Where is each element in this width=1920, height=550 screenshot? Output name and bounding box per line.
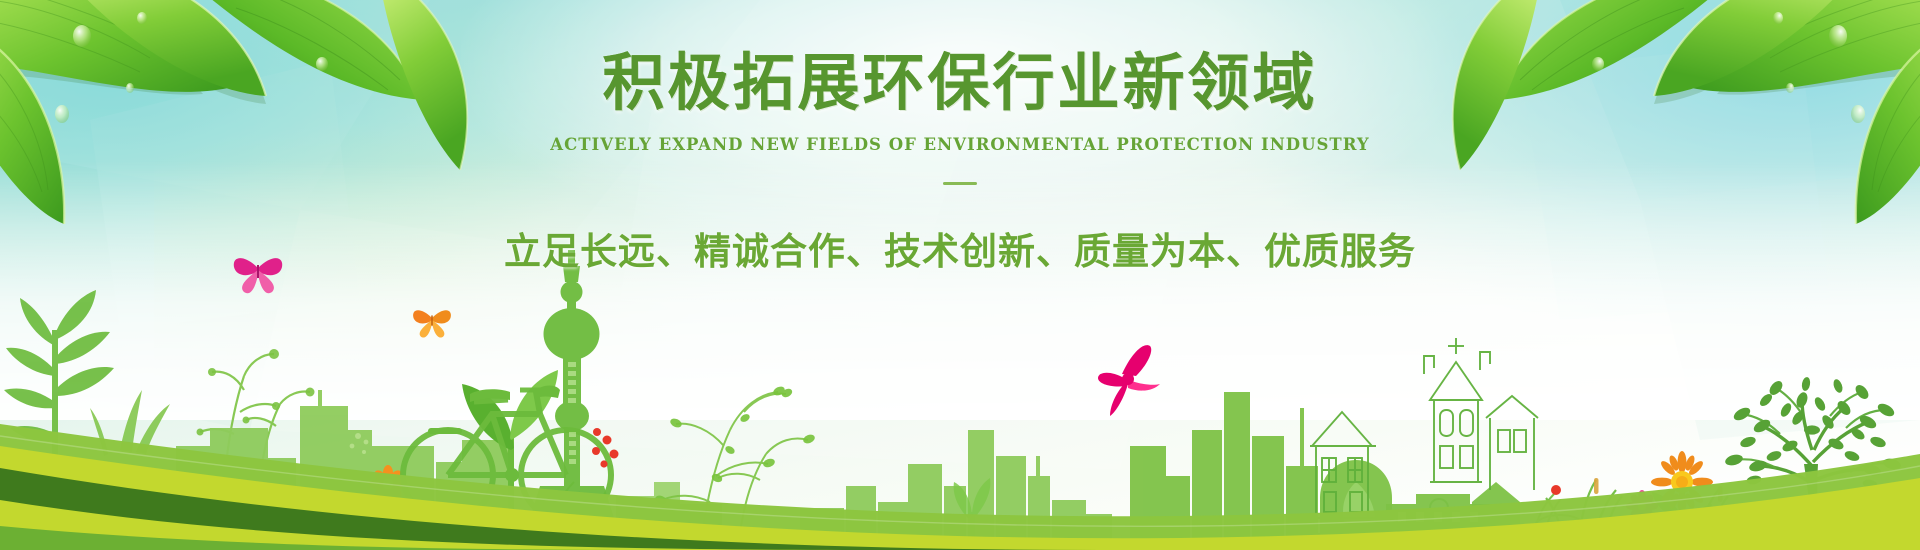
eco-banner: 积极拓展环保行业新领域 ACTIVELY EXPAND NEW FIELDS O…: [0, 0, 1920, 550]
dewdrop-icon: [1829, 25, 1847, 47]
banner-text-block: 积极拓展环保行业新领域 ACTIVELY EXPAND NEW FIELDS O…: [0, 48, 1920, 275]
dewdrop-icon: [1773, 12, 1783, 24]
divider-icon: [943, 182, 977, 185]
page-title: 积极拓展环保行业新领域: [0, 48, 1920, 119]
page-subtitle: ACTIVELY EXPAND NEW FIELDS OF ENVIRONMEN…: [0, 135, 1920, 154]
page-tagline: 立足长远、精诚合作、技术创新、质量为本、优质服务: [0, 221, 1920, 275]
dewdrop-icon: [73, 25, 91, 47]
butterfly-icon: [413, 310, 451, 337]
dewdrop-icon: [137, 12, 147, 24]
hill-ribbons: [0, 350, 1920, 550]
